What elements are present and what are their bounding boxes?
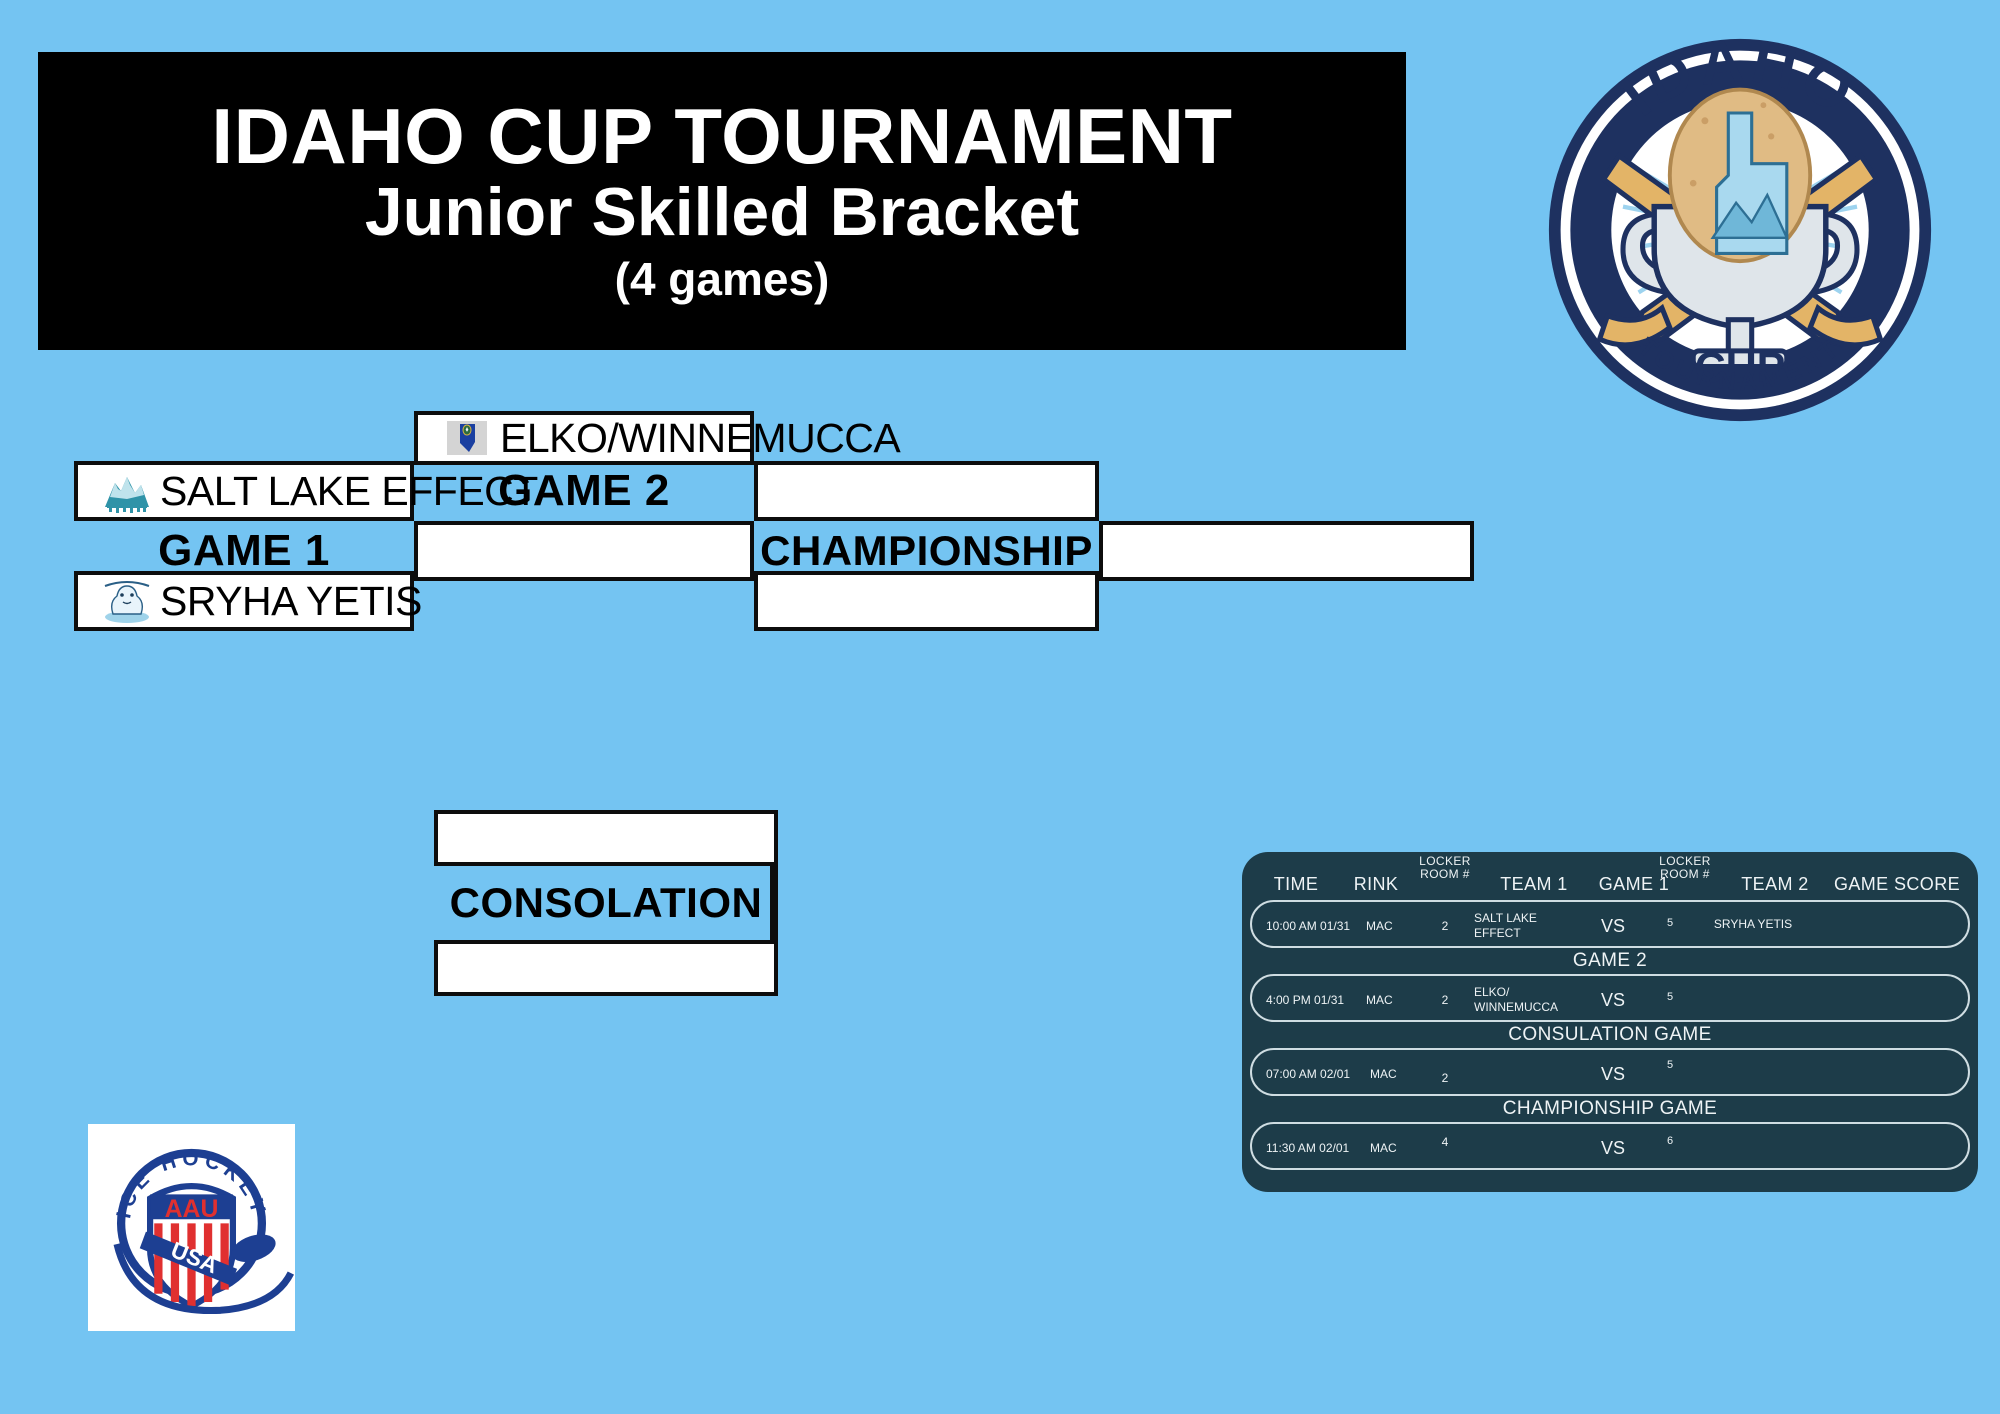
schedule-separator-consolation: CONSULATION GAME	[1242, 1024, 1978, 1046]
cell-vs: VS	[1578, 902, 1648, 950]
cell-vs: VS	[1578, 976, 1648, 1024]
page-subtitle: Junior Skilled Bracket	[365, 176, 1079, 249]
cell-team-1: SALT LAKE EFFECT	[1474, 902, 1570, 950]
bracket-slot-salt-lake-effect[interactable]: SALT LAKE EFFECT	[74, 461, 414, 521]
cell-vs: VS	[1578, 1050, 1648, 1098]
schedule-separator-championship: CHAMPIONSHIP GAME	[1242, 1098, 1978, 1120]
cell-time: 4:00 PM 01/31	[1266, 976, 1366, 1024]
schedule-col-team-1: TEAM 1	[1480, 852, 1588, 898]
bracket-slot-label: ELKO/WINNEMUCCA	[500, 415, 910, 462]
schedule-col-time: TIME	[1252, 852, 1340, 898]
schedule-row-game-1[interactable]: 10:00 AM 01/31 MAC 2 SALT LAKE EFFECT VS…	[1250, 900, 1970, 948]
schedule-header-row: TIME RINK LOCKER ROOM # TEAM 1 GAME 1 LO…	[1242, 852, 1978, 898]
cell-locker-room-1: 2	[1412, 902, 1478, 950]
locker-room-2-line-1: LOCKER	[1648, 855, 1722, 868]
idaho-cup-tournament-logo: IDAHO CUP TOURNAMENT	[1545, 35, 1935, 425]
cell-locker-room-1: 2	[1412, 1054, 1478, 1102]
cell-locker-room-1: 4	[1412, 1118, 1478, 1166]
bracket-slot-champion[interactable]	[1099, 521, 1474, 581]
cell-team-1: ELKO/ WINNEMUCCA	[1474, 976, 1574, 1024]
schedule-row-championship[interactable]: 11:30 AM 02/01 MAC 4 VS 6	[1250, 1122, 1970, 1170]
locker-room-1-line-1: LOCKER	[1410, 855, 1480, 868]
salt-lake-effect-logo	[94, 465, 160, 517]
schedule-col-game-score: GAME SCORE	[1822, 852, 1972, 898]
bracket-label-championship-text: CHAMPIONSHIP	[760, 527, 1093, 575]
bracket-label-game-2-text: GAME 2	[498, 466, 670, 516]
cell-time: 10:00 AM 01/31	[1266, 902, 1366, 950]
cell-vs: VS	[1578, 1124, 1648, 1172]
schedule-col-locker-room-1: LOCKER ROOM #	[1410, 852, 1480, 898]
cell-locker-room-2: 5	[1648, 976, 1692, 1020]
schedule-col-team-2: TEAM 2	[1720, 852, 1830, 898]
schedule-col-locker-room-2: LOCKER ROOM #	[1648, 852, 1722, 898]
bracket-label-consolation-text: CONSOLATION	[450, 879, 763, 927]
aau-usa-ice-hockey-logo: ICE HOCKEY AAU USA	[88, 1124, 295, 1331]
cell-rink: MAC	[1366, 976, 1418, 1024]
schedule-separator-game-2: GAME 2	[1242, 950, 1978, 972]
cell-time: 07:00 AM 02/01	[1266, 1050, 1370, 1098]
bracket-slot-championship-lower[interactable]	[754, 571, 1099, 631]
cell-locker-room-2: 6	[1648, 1120, 1692, 1164]
locker-room-1-line-2: ROOM #	[1410, 868, 1480, 881]
schedule-panel: TIME RINK LOCKER ROOM # TEAM 1 GAME 1 LO…	[1242, 852, 1978, 1192]
bracket-label-consolation: CONSOLATION	[434, 866, 778, 940]
bracket-slot-label: SRYHA YETIS	[160, 578, 432, 625]
sryha-yetis-logo	[94, 575, 160, 627]
bracket-slot-consolation-upper[interactable]	[434, 810, 778, 866]
page-game-count: (4 games)	[615, 250, 830, 310]
consolation-connector	[770, 866, 778, 940]
schedule-row-game-2[interactable]: 4:00 PM 01/31 MAC 2 ELKO/ WINNEMUCCA VS …	[1250, 974, 1970, 1022]
schedule-col-rink: RINK	[1340, 852, 1412, 898]
bracket-label-game-2: GAME 2	[414, 461, 754, 521]
cell-locker-room-1: 2	[1412, 976, 1478, 1024]
cell-locker-room-2: 5	[1648, 1044, 1692, 1088]
bracket-slot-championship-upper[interactable]	[754, 461, 1099, 521]
svg-text:AAU: AAU	[165, 1196, 219, 1223]
locker-room-2-line-2: ROOM #	[1648, 868, 1722, 881]
cell-locker-room-2: 5	[1648, 902, 1692, 946]
title-banner: IDAHO CUP TOURNAMENT Junior Skilled Brac…	[38, 52, 1406, 350]
cell-team-2: SRYHA YETIS	[1692, 902, 1814, 946]
nevada-state-flag-icon	[434, 412, 500, 464]
cell-time: 11:30 AM 02/01	[1266, 1124, 1370, 1172]
bracket-slot-consolation-lower[interactable]	[434, 940, 778, 996]
bracket-slot-sryha-yetis[interactable]: SRYHA YETIS	[74, 571, 414, 631]
bracket-slot-game1-winner[interactable]	[414, 521, 754, 581]
bracket-slot-elko-winnemucca[interactable]: ELKO/WINNEMUCCA	[414, 411, 754, 465]
schedule-row-consolation[interactable]: 07:00 AM 02/01 MAC 2 VS 5	[1250, 1048, 1970, 1096]
page-title: IDAHO CUP TOURNAMENT	[211, 97, 1232, 177]
bracket-label-game-1-text: GAME 1	[158, 526, 330, 576]
cell-rink: MAC	[1366, 902, 1418, 950]
